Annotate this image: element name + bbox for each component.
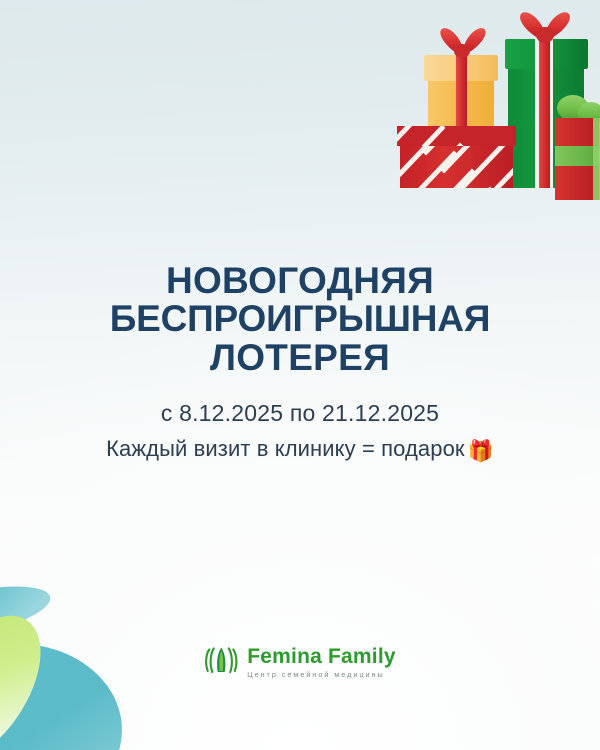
gift-boxes-icon [388,0,600,212]
promo-poster: НОВОГОДНЯЯ БЕСПРОИГРЫШНАЯ ЛОТЕРЕЯ с 8.12… [0,0,600,750]
promo-date-range: с 8.12.2025 по 21.12.2025 [28,399,572,428]
femina-flame-icon [204,645,238,680]
brand-logo: Femina Family Центр семейной медицины [204,645,395,680]
decor-teal-disc [0,575,55,652]
bow-red-green-box [520,12,570,43]
logo-text-block: Femina Family Центр семейной медицины [247,646,395,678]
flame-petal-icon [204,645,238,675]
decor-green-petal [0,595,65,750]
gift-box-yellow [424,28,498,144]
poster-content: НОВОГОДНЯЯ БЕСПРОИГРЫШНАЯ ЛОТЕРЕЯ с 8.12… [0,262,600,465]
gift-box-small-red-green [555,95,600,200]
promo-tagline-text: Каждый визит в клинику = подарок [106,436,465,461]
leaf-decoration-icon [0,562,172,750]
promo-tagline: Каждый визит в клинику = подарок🎁 [28,435,572,465]
stripes-red-box [388,92,538,212]
stripes-red-lid [388,110,532,212]
bow-red-yellow-box [440,28,485,58]
gift-box-red-striped [388,92,538,212]
promo-details: с 8.12.2025 по 21.12.2025 Каждый визит в… [28,399,572,465]
headline-line-1: НОВОГОДНЯЯ [28,262,572,300]
bow-green-small-box [557,95,600,124]
logo-tagline: Центр семейной медицины [247,671,395,678]
gift-box-green-tall [505,12,588,188]
headline-line-2: БЕСПРОИГРЫШНАЯ [28,300,572,338]
abstract-leaf-decoration [0,562,172,750]
decor-teal-circle [0,644,122,750]
headline-line-3: ЛОТЕРЕЯ [28,339,572,377]
logo-name: Femina Family [247,646,395,667]
gift-boxes-illustration [388,0,600,212]
page-title: НОВОГОДНЯЯ БЕСПРОИГРЫШНАЯ ЛОТЕРЕЯ [28,262,572,377]
gift-emoji-icon: 🎁 [468,440,494,463]
